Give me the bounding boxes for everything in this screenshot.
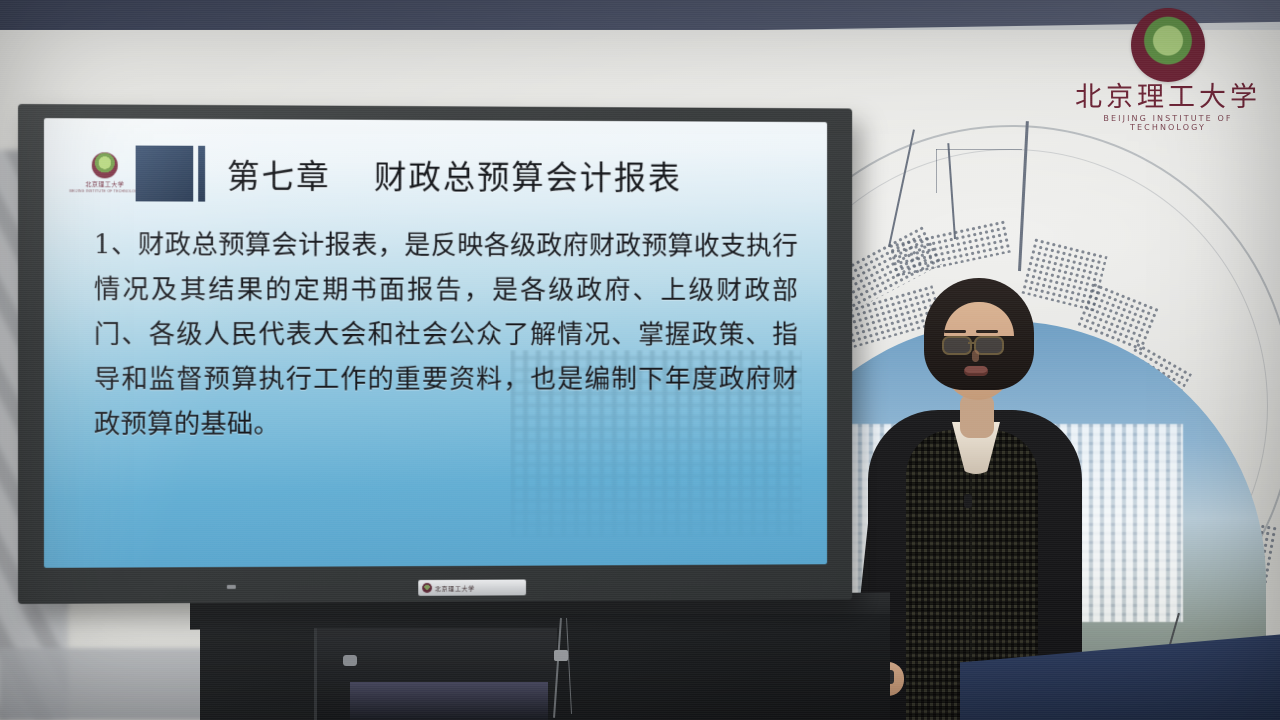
presentation-slide: 北京理工大学 BEIJING INSTITUTE OF TECHNOLOGY 第… xyxy=(44,118,827,568)
cable-clip-icon xyxy=(554,650,568,661)
floor xyxy=(0,648,230,720)
eyeglasses-bridge xyxy=(968,342,976,344)
university-crest-icon xyxy=(1131,8,1205,82)
slide-header: 北京理工大学 BEIJING INSTITUTE OF TECHNOLOGY 第… xyxy=(44,142,827,206)
slide-body-text: 1、财政总预算会计报表，是反映各级政府财政预算收支执行情况及其结果的定期书面报告… xyxy=(94,222,798,447)
slide-chapter-label: 第七章 xyxy=(227,157,331,196)
presenter-neck xyxy=(960,394,994,438)
power-led-icon xyxy=(227,585,236,589)
presenter-mouth xyxy=(964,366,988,376)
mural-line xyxy=(936,149,937,193)
university-crest-icon xyxy=(92,152,118,178)
lecture-scene: 北京理工大学 BEIJING INSTITUTE OF TECHNOLOGY xyxy=(0,0,1280,720)
presenter-nose xyxy=(972,350,979,362)
slide-title: 第七章财政总预算会计报表 xyxy=(227,150,682,199)
wall-logo-name-cn: 北京理工大学 xyxy=(1068,84,1268,112)
slide-logo-name-cn: 北京理工大学 xyxy=(85,179,124,188)
display-nameplate: 北京理工大学 xyxy=(418,580,526,596)
lapel-microphone-icon xyxy=(964,494,972,508)
slide-heading-label: 财政总预算会计报表 xyxy=(374,158,682,198)
presenter-eyebrow xyxy=(976,330,998,333)
cabinet-knob-icon xyxy=(343,655,357,666)
display-screen[interactable]: 北京理工大学 BEIJING INSTITUTE OF TECHNOLOGY 第… xyxy=(44,118,827,568)
slide-university-logo: 北京理工大学 BEIJING INSTITUTE OF TECHNOLOGY xyxy=(88,152,122,194)
slide-logo-name-en: BEIJING INSTITUTE OF TECHNOLOGY xyxy=(69,189,140,193)
presenter-eyebrow xyxy=(944,330,966,333)
wall-logo-name-en: BEIJING INSTITUTE OF TECHNOLOGY xyxy=(1068,114,1268,132)
wall-university-logo: 北京理工大学 BEIJING INSTITUTE OF TECHNOLOGY xyxy=(1068,8,1268,138)
presenter xyxy=(860,262,1090,720)
slide-accent-bar xyxy=(198,146,205,202)
eyeglasses-icon xyxy=(942,336,972,355)
nameplate-crest-icon xyxy=(422,583,432,593)
wall-display[interactable]: 北京理工大学 BEIJING INSTITUTE OF TECHNOLOGY 第… xyxy=(18,104,852,604)
slide-accent-square xyxy=(136,146,194,202)
confidence-monitor xyxy=(350,682,548,720)
mural-line xyxy=(936,149,1022,150)
nameplate-text: 北京理工大学 xyxy=(435,583,475,592)
